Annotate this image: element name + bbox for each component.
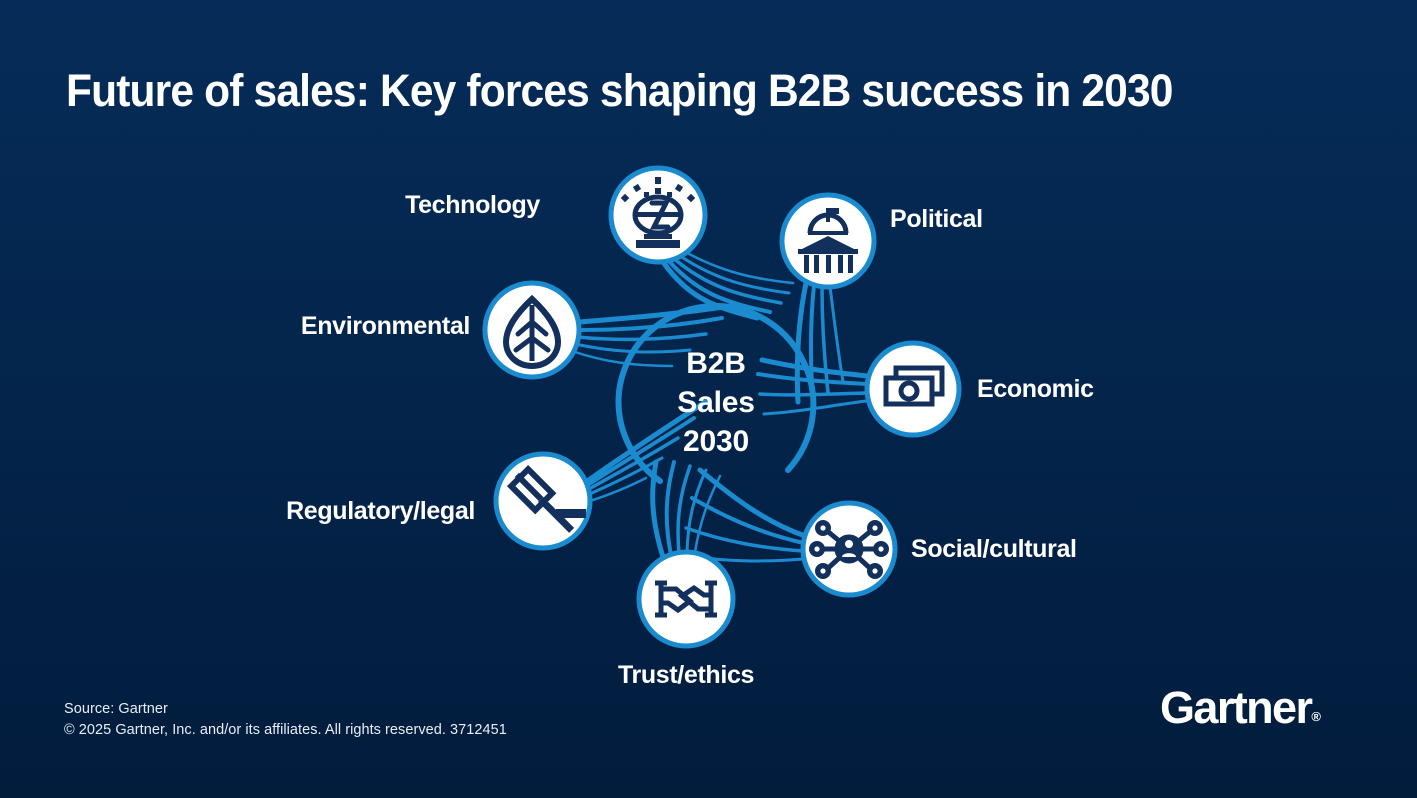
label-social-cultural: Social/cultural xyxy=(911,535,1077,564)
label-technology: Technology xyxy=(300,191,540,220)
gartner-logo-text: Gartner xyxy=(1160,682,1311,733)
source-line: Source: Gartner xyxy=(64,699,507,720)
label-trust-ethics: Trust/ethics xyxy=(556,661,816,690)
copyright-line: © 2025 Gartner, Inc. and/or its affiliat… xyxy=(64,720,507,741)
label-environmental: Environmental xyxy=(150,312,470,341)
spokes-regulatory-legal xyxy=(572,400,708,506)
label-regulatory-legal: Regulatory/legal xyxy=(120,497,475,526)
node-social-cultural[interactable] xyxy=(803,503,895,595)
node-economic[interactable] xyxy=(867,343,959,435)
node-political[interactable] xyxy=(782,195,874,287)
label-economic: Economic xyxy=(977,375,1094,404)
infographic-canvas: Future of sales: Key forces shaping B2B … xyxy=(0,0,1417,798)
sound-block xyxy=(556,509,586,518)
spokes-environmental xyxy=(572,306,730,366)
node-regulatory-legal[interactable] xyxy=(496,454,590,548)
registered-trademark-icon: ® xyxy=(1311,709,1321,724)
footer-credits: Source: Gartner © 2025 Gartner, Inc. and… xyxy=(64,699,507,741)
gartner-logo: Gartner® xyxy=(1160,685,1321,739)
label-political: Political xyxy=(890,205,983,234)
node-technology[interactable] xyxy=(611,168,705,262)
node-environmental[interactable] xyxy=(485,283,579,377)
node-trust-ethics[interactable] xyxy=(639,552,733,646)
